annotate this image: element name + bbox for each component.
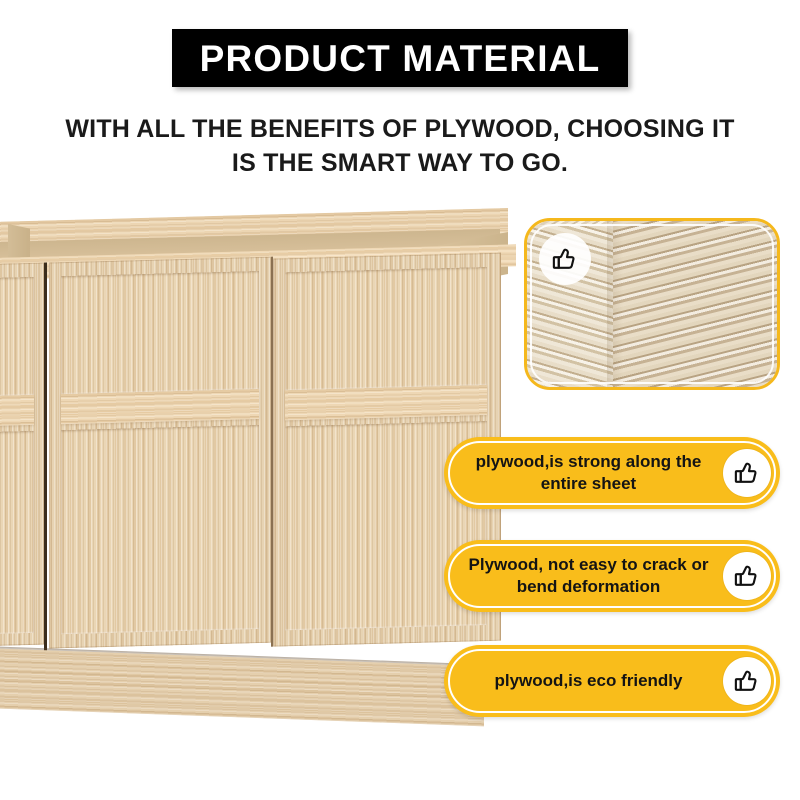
cabinet-door-center bbox=[49, 257, 271, 649]
page-title-banner: PRODUCT MATERIAL bbox=[172, 29, 628, 87]
plywood-closeup-inset bbox=[524, 218, 780, 390]
subtitle: WITH ALL THE BENEFITS OF PLYWOOD, CHOOSI… bbox=[50, 112, 750, 180]
door-panel-upper-right bbox=[285, 267, 487, 390]
thumbs-up-icon bbox=[723, 552, 771, 600]
feature-pill-label: plywood,is eco friendly bbox=[458, 670, 723, 692]
door-panel-lower-center bbox=[61, 425, 259, 634]
door-panel-upper-left bbox=[0, 277, 34, 396]
feature-pill-label: plywood,is strong along the entire sheet bbox=[458, 451, 723, 495]
thumbs-up-icon bbox=[723, 657, 771, 705]
feature-pill[interactable]: plywood,is strong along the entire sheet bbox=[444, 437, 780, 509]
subtitle-line-2: IS THE SMART WAY TO GO. bbox=[50, 146, 750, 180]
cabinet-front-face bbox=[0, 250, 512, 654]
plywood-edge-right-plies bbox=[613, 218, 780, 390]
product-photo-cabinet bbox=[0, 218, 520, 728]
door-panel-lower-left bbox=[0, 431, 34, 634]
cabinet-door-left bbox=[0, 263, 44, 647]
door-panel-upper-center bbox=[61, 271, 259, 394]
page-title: PRODUCT MATERIAL bbox=[200, 40, 601, 77]
feature-pill[interactable]: plywood,is eco friendly bbox=[444, 645, 780, 717]
subtitle-line-1: WITH ALL THE BENEFITS OF PLYWOOD, CHOOSI… bbox=[50, 112, 750, 146]
cabinet-toe-kick-base bbox=[0, 648, 484, 726]
door-rail-center bbox=[61, 389, 259, 424]
door-rail-right bbox=[285, 385, 487, 420]
thumbs-up-icon bbox=[539, 233, 591, 285]
door-rail-left bbox=[0, 395, 34, 426]
cabinet-gap-left bbox=[44, 263, 47, 651]
plywood-corner-shading bbox=[607, 221, 623, 390]
feature-pill-label: Plywood, not easy to crack or bend defor… bbox=[458, 554, 723, 598]
feature-pill[interactable]: Plywood, not easy to crack or bend defor… bbox=[444, 540, 780, 612]
product-material-infographic: PRODUCT MATERIAL WITH ALL THE BENEFITS O… bbox=[0, 0, 800, 800]
thumbs-up-icon bbox=[723, 449, 771, 497]
